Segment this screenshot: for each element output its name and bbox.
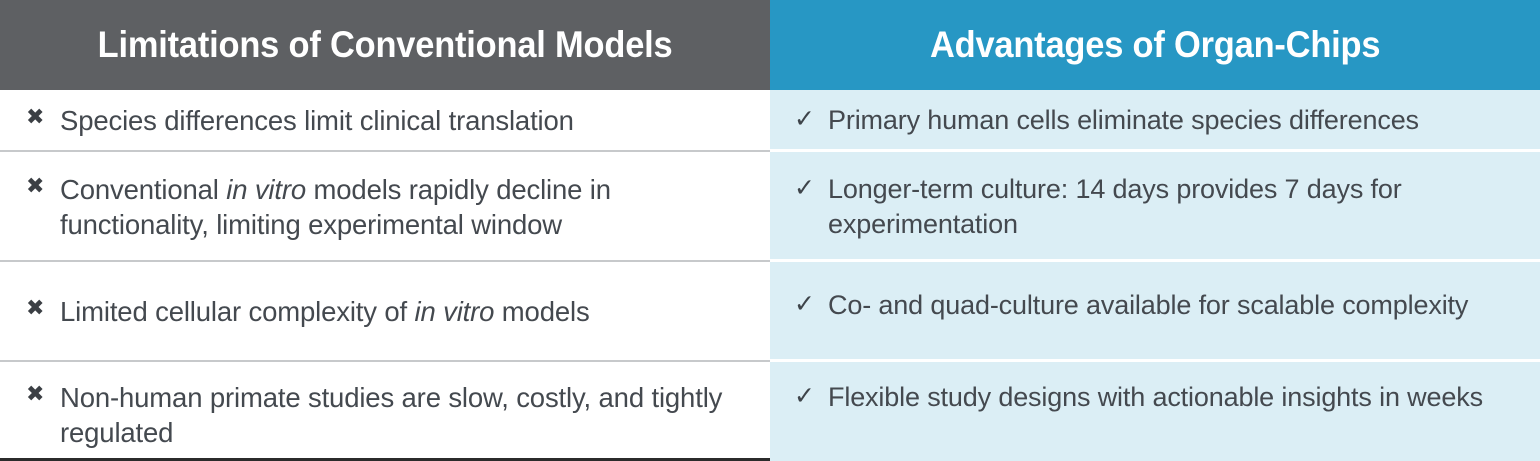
cross-icon: ✖ [22,380,60,408]
limitation-row-3-text: Limited cellular complexity of in vitro … [60,294,730,329]
cross-icon: ✖ [22,103,60,131]
limitation-row-2: ✖ Conventional in vitro models rapidly d… [0,152,770,262]
italic-term: in vitro [415,296,495,327]
check-icon: ✓ [792,380,828,412]
advantage-row-2: ✓ Longer-term culture: 14 days provides … [770,152,1540,262]
advantage-row-4: ✓ Flexible study designs with actionable… [770,362,1540,461]
cross-icon: ✖ [22,294,60,322]
column-limitations: Limitations of Conventional Models ✖ Spe… [0,0,770,461]
limitation-row-4-text: Non-human primate studies are slow, cost… [60,380,730,450]
check-icon: ✓ [792,288,828,320]
advantage-row-1-text: Primary human cells eliminate species di… [828,103,1518,138]
cross-icon: ✖ [22,172,60,200]
column-advantages: Advantages of Organ-Chips ✓ Primary huma… [770,0,1540,461]
advantage-row-2-text: Longer-term culture: 14 days provides 7 … [828,172,1518,241]
column-body-limitations: ✖ Species differences limit clinical tra… [0,90,770,461]
column-header-limitations-label: Limitations of Conventional Models [98,24,673,66]
column-header-advantages: Advantages of Organ-Chips [770,0,1540,90]
limitation-row-1-text: Species differences limit clinical trans… [60,103,730,138]
advantage-row-1: ✓ Primary human cells eliminate species … [770,90,1540,152]
comparison-table: Limitations of Conventional Models ✖ Spe… [0,0,1540,461]
limitation-row-4: ✖ Non-human primate studies are slow, co… [0,362,770,461]
italic-term: in vitro [226,174,306,205]
check-icon: ✓ [792,103,828,135]
limitation-row-1: ✖ Species differences limit clinical tra… [0,90,770,152]
limitation-row-3: ✖ Limited cellular complexity of in vitr… [0,262,770,362]
column-header-advantages-label: Advantages of Organ-Chips [930,24,1380,66]
advantage-row-3-text: Co- and quad-culture available for scala… [828,288,1518,323]
check-icon: ✓ [792,172,828,204]
advantage-row-3: ✓ Co- and quad-culture available for sca… [770,262,1540,362]
column-body-advantages: ✓ Primary human cells eliminate species … [770,90,1540,461]
limitation-row-2-text: Conventional in vitro models rapidly dec… [60,172,730,242]
column-header-limitations: Limitations of Conventional Models [0,0,770,90]
advantage-row-4-text: Flexible study designs with actionable i… [828,380,1518,415]
